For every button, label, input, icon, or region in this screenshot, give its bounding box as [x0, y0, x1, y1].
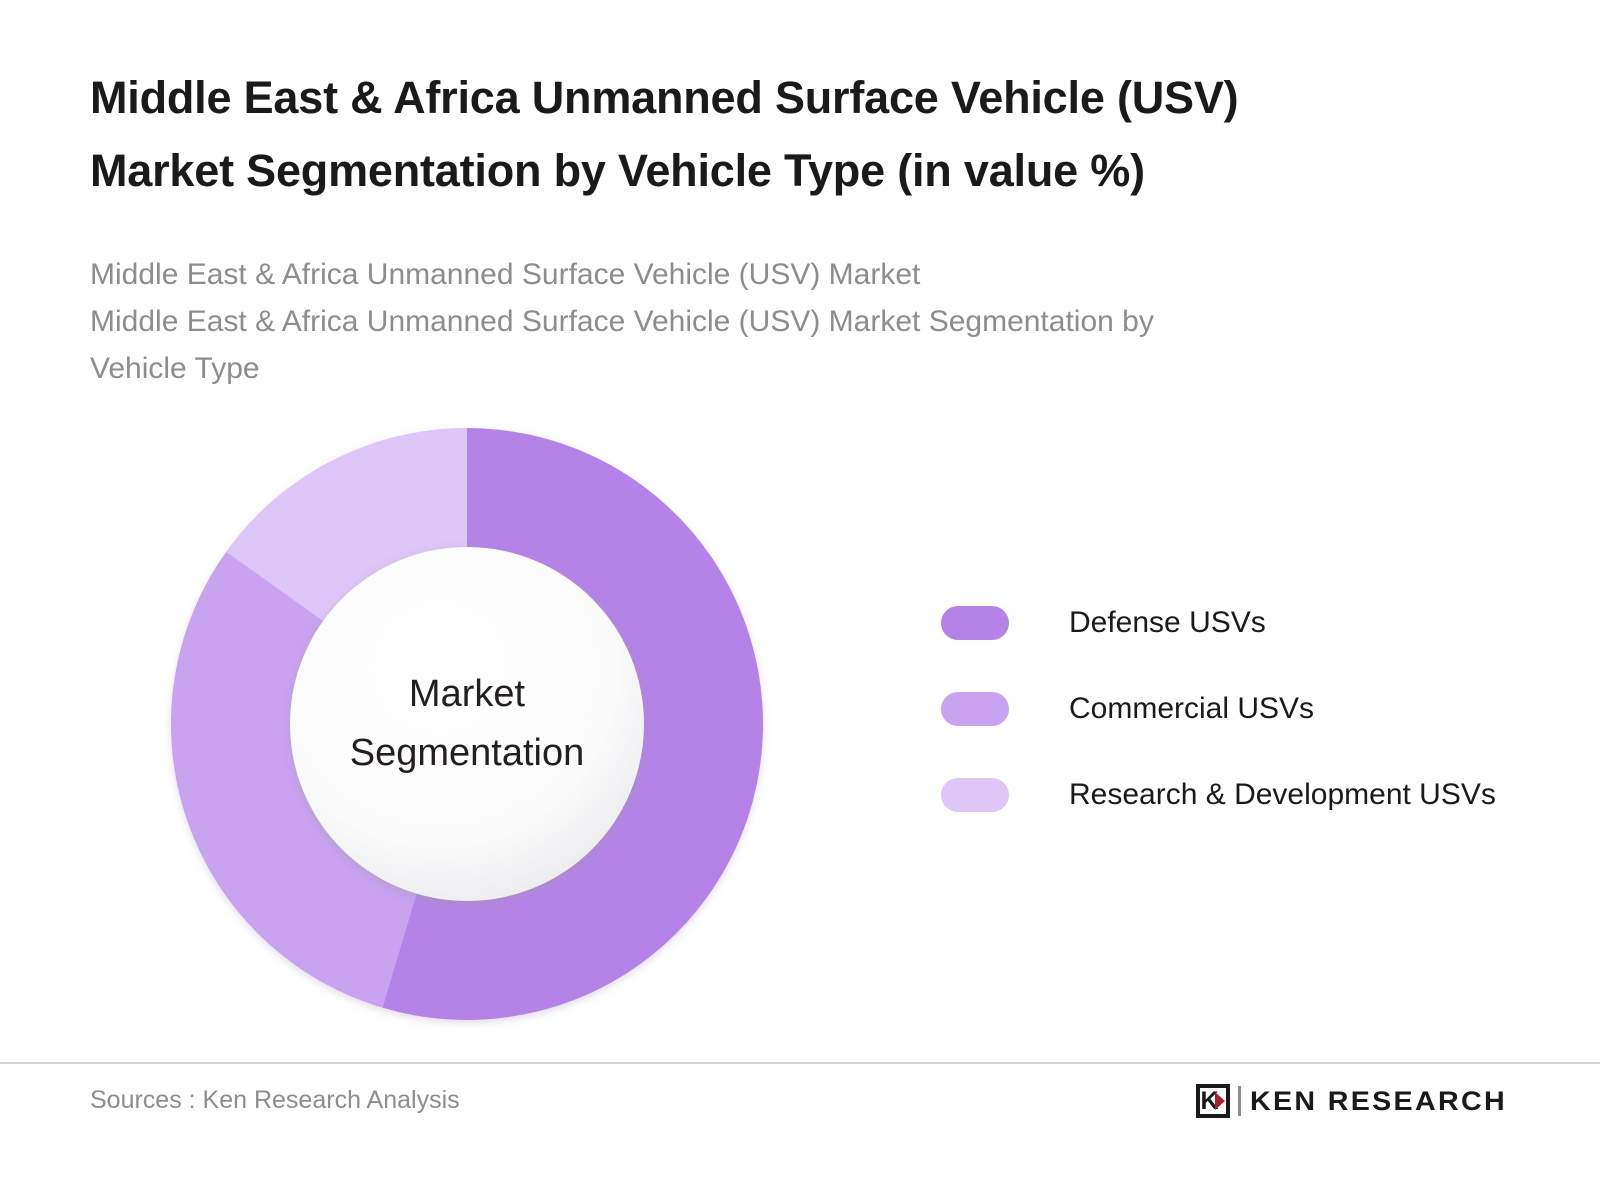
- subtitle-block: Middle East & Africa Unmanned Surface Ve…: [90, 252, 1490, 392]
- title-block: Middle East & Africa Unmanned Surface Ve…: [90, 62, 1510, 208]
- logo-wordmark: KEN RESEARCH: [1250, 1086, 1507, 1117]
- donut-hub: [290, 547, 644, 901]
- logo-divider-icon: [1238, 1086, 1241, 1116]
- legend-label: Defense USVs: [1069, 606, 1266, 640]
- page-title: Middle East & Africa Unmanned Surface Ve…: [90, 62, 1510, 208]
- ken-research-logo: K KEN RESEARCH: [1196, 1082, 1492, 1120]
- legend-item[interactable]: Defense USVs: [941, 580, 1561, 666]
- slide-canvas: Middle East & Africa Unmanned Surface Ve…: [0, 0, 1600, 1200]
- legend-swatch-icon: [941, 778, 1009, 812]
- chart-legend: Defense USVsCommercial USVsResearch & De…: [941, 580, 1561, 838]
- chart-subtitle: Middle East & Africa Unmanned Surface Ve…: [90, 252, 1490, 392]
- legend-label: Research & Development USVs: [1069, 778, 1496, 812]
- legend-swatch-icon: [941, 606, 1009, 640]
- legend-item[interactable]: Commercial USVs: [941, 666, 1561, 752]
- footer-divider: [0, 1062, 1600, 1064]
- logo-triangle-icon: [1215, 1092, 1225, 1110]
- donut-chart: Defense USVs 54.6%Commercial USVs 30.3%R…: [171, 428, 763, 1020]
- source-note: Sources : Ken Research Analysis: [90, 1086, 460, 1115]
- legend-item[interactable]: Research & Development USVs: [941, 752, 1561, 838]
- logo-k-icon: K: [1196, 1084, 1230, 1118]
- legend-swatch-icon: [941, 692, 1009, 726]
- donut-svg: Defense USVs 54.6%Commercial USVs 30.3%R…: [171, 428, 763, 1020]
- legend-label: Commercial USVs: [1069, 692, 1314, 726]
